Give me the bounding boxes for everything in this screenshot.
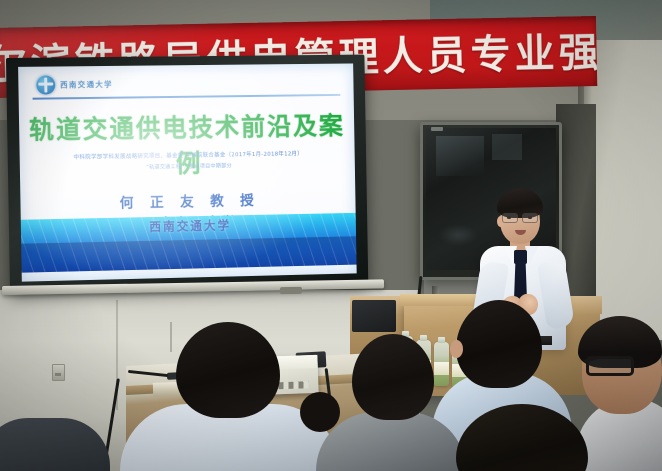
slide-divider: [33, 94, 341, 99]
audience-head: [300, 392, 340, 432]
audience-head: [352, 334, 434, 420]
slide-university-logo: 西南交通大学: [36, 75, 113, 95]
university-emblem-icon: [36, 75, 55, 94]
display-brand-logo: [431, 127, 443, 131]
audience-head: [456, 300, 542, 388]
water-bottle[interactable]: [434, 342, 449, 386]
slide-logo-label: 西南交通大学: [60, 79, 113, 91]
display-reflection-b: [492, 134, 522, 160]
display-reflection-a: [436, 136, 484, 176]
screen-pull-knob[interactable]: [280, 287, 302, 294]
slide-footer-band: 西南交通大学: [21, 213, 357, 273]
bottle-label: [434, 362, 449, 375]
power-outlet[interactable]: [52, 364, 65, 381]
presenter-tie-knot: [514, 250, 527, 264]
presenter-eye-left: [507, 216, 511, 219]
projected-slide: 西南交通大学 轨道交通供电技术前沿及案例 中科院学部学科发展战略研究项目、基金委…: [18, 63, 357, 281]
small-monitor[interactable]: [352, 300, 396, 332]
wall-pipe: [170, 322, 172, 352]
projection-screen: 西南交通大学 轨道交通供电技术前沿及案例 中科院学部学科发展战略研究项目、基金委…: [6, 55, 368, 291]
presenter-eye-right: [528, 216, 532, 219]
audience-ear: [450, 340, 463, 358]
lecture-hall-photo: 尔滨铁路局供电管理人员专业强化培训班学员 西南交通大学 轨道交通供电技术前沿及案…: [0, 0, 662, 471]
presenter-collar-right: [525, 246, 539, 265]
audience-head: [176, 322, 280, 418]
